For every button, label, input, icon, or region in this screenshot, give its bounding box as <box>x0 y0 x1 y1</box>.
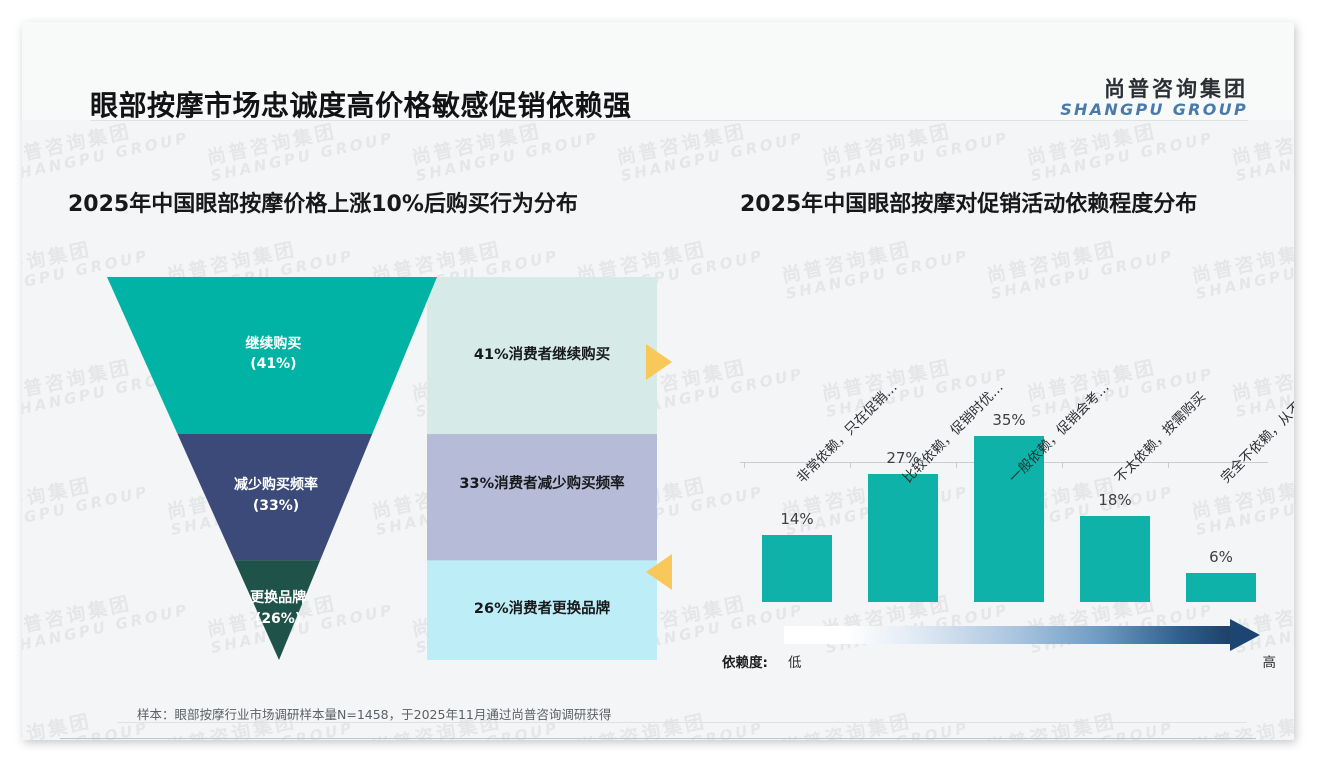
bar-rect <box>868 474 938 602</box>
dependency-legend: 依赖度: 低 高 <box>722 618 1282 678</box>
watermark-text: 尚普咨询集团SHANGPU GROUP <box>1230 111 1294 185</box>
axis-tick <box>1168 462 1169 468</box>
watermark-text: 尚普咨询集团SHANGPU GROUP <box>615 111 805 185</box>
axis-tick <box>956 462 957 468</box>
watermark-text: 尚普咨询集团SHANGPU GROUP <box>1025 111 1215 185</box>
funnel-annotation-0: 41%消费者继续购买 <box>439 344 645 367</box>
watermark-text: 尚普咨询集团SHANGPU GROUP <box>22 701 151 740</box>
arrow-left-icon <box>642 552 676 592</box>
legend-high-label: 高 <box>1263 651 1277 671</box>
slide-card: 尚普咨询集团SHANGPU GROUP尚普咨询集团SHANGPU GROUP尚普… <box>22 22 1294 740</box>
watermark-text: 尚普咨询集团SHANGPU GROUP <box>820 111 1010 185</box>
bar-rect <box>1080 516 1150 602</box>
footer-divider <box>60 738 1256 739</box>
bar-value-label: 18% <box>1080 491 1150 509</box>
note-divider <box>117 722 1247 723</box>
funnel-annotation-1: 33%消费者减少购买频率 <box>439 473 645 496</box>
funnel-chart: 继续购买(41%) 减少购买频率(33%) 更换品牌(26%) 41%消费者继续… <box>97 272 657 667</box>
logo-english-text: SHANGPU GROUP <box>1060 101 1248 119</box>
axis-tick <box>850 462 851 468</box>
watermark-text: 尚普咨询集团SHANGPU GROUP <box>1190 701 1294 740</box>
bar-value-label: 14% <box>762 510 832 528</box>
right-chart-title: 2025年中国眼部按摩对促销活动依赖程度分布 <box>740 186 1197 218</box>
funnel-label-2: 更换品牌(26%) <box>188 588 368 629</box>
logo-chinese-text: 尚普咨询集团 <box>1060 77 1248 101</box>
watermark-text: 尚普咨询集团SHANGPU GROUP <box>780 701 970 740</box>
funnel-annotation-2: 26%消费者更换品牌 <box>439 598 645 621</box>
bar-value-label: 6% <box>1186 548 1256 566</box>
axis-tick <box>1062 462 1063 468</box>
company-logo: 尚普咨询集团 SHANGPU GROUP <box>1060 77 1248 120</box>
bar-chart: 14%非常依赖，只在促销…27%比较依赖，促销时优…35%一般依赖，促销会考…1… <box>722 272 1282 602</box>
page-title: 眼部按摩市场忠诚度高价格敏感促销依赖强 <box>90 84 632 124</box>
funnel-label-1: 减少购买频率(33%) <box>186 475 366 516</box>
arrow-right-icon <box>642 342 676 382</box>
legend-title: 依赖度: <box>722 651 768 671</box>
legend-arrow-icon <box>1230 619 1260 651</box>
watermark-text: 尚普咨询集团SHANGPU GROUP <box>985 701 1175 740</box>
funnel-label-0: 继续购买(41%) <box>183 334 363 375</box>
bar-value-label: 35% <box>974 411 1044 429</box>
sample-note: 样本：眼部按摩行业市场调研样本量N=1458，于2025年11月通过尚普咨询调研… <box>137 704 611 723</box>
bar-rect <box>1186 573 1256 602</box>
legend-low-label: 低 <box>788 651 802 671</box>
legend-gradient-bar <box>784 626 1234 644</box>
funnel-panel-1 <box>427 434 657 560</box>
axis-tick <box>744 462 745 468</box>
bar-rect <box>762 535 832 602</box>
left-chart-title: 2025年中国眼部按摩价格上涨10%后购买行为分布 <box>68 186 578 218</box>
